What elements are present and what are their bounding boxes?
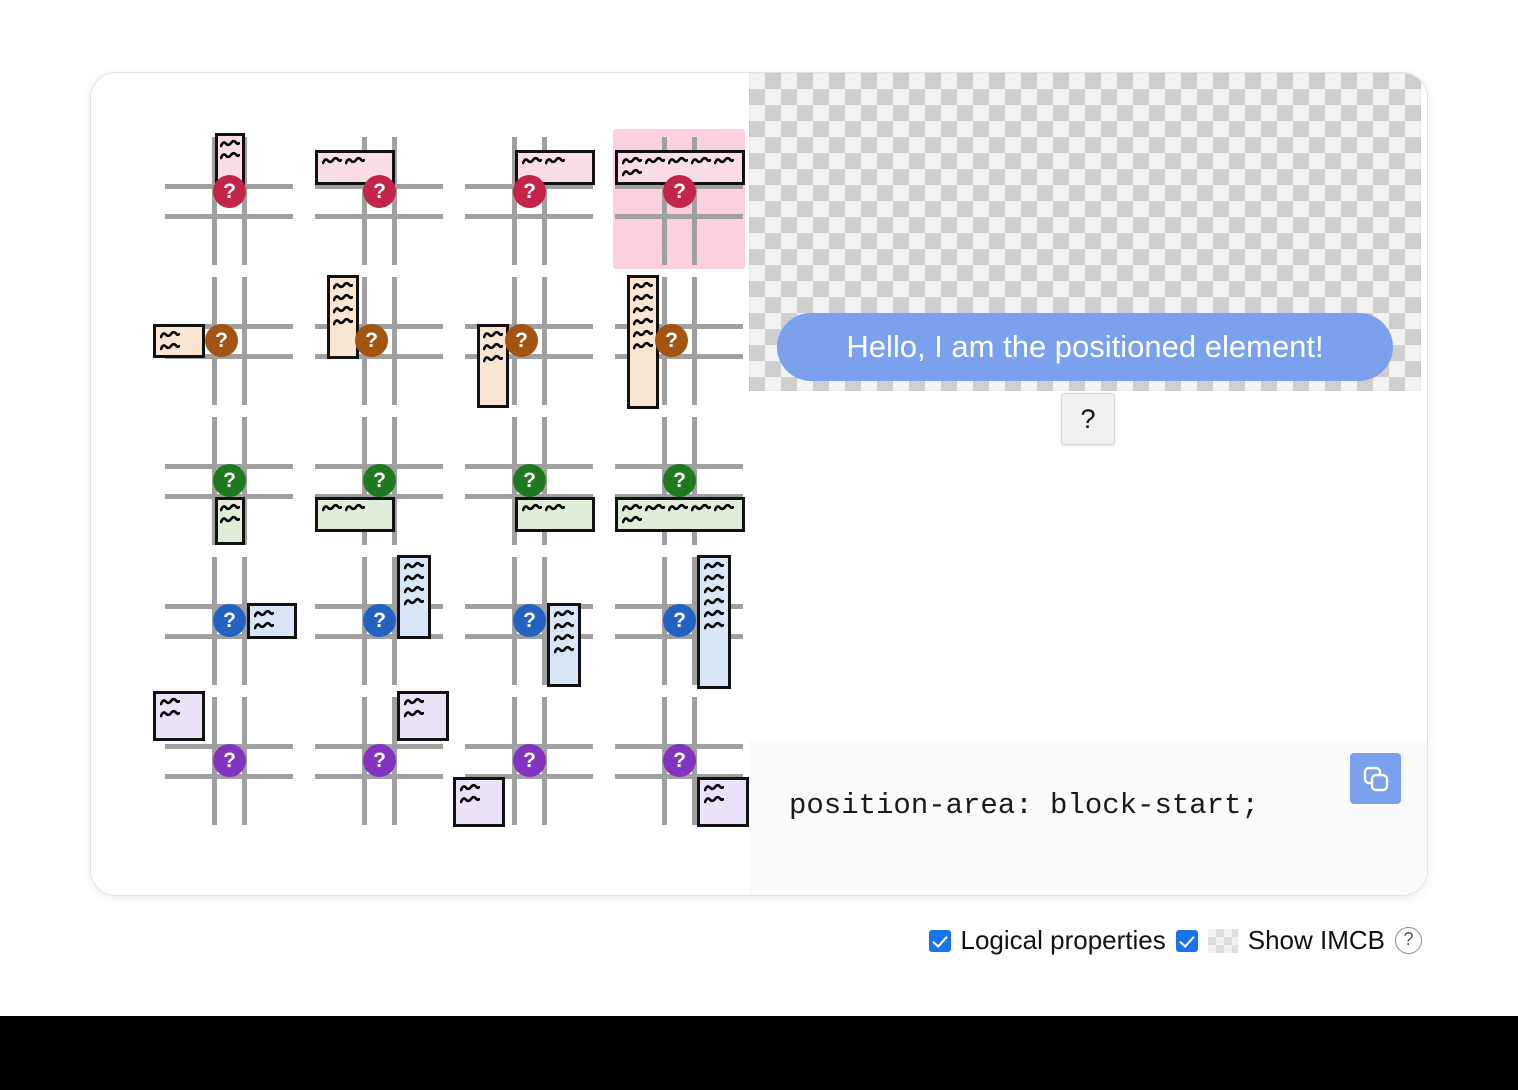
anchor-badge: ? xyxy=(663,744,696,777)
containing-block-grid: ? xyxy=(185,297,273,385)
squiggle-icon xyxy=(554,645,574,656)
squiggle-icon xyxy=(404,697,424,708)
squiggle-icon xyxy=(622,503,642,514)
squiggle-icon xyxy=(704,597,724,608)
squiggle-icon xyxy=(704,795,724,806)
squiggle-icon xyxy=(460,783,480,794)
position-area-option[interactable]: ? xyxy=(313,129,445,269)
squiggle-icon xyxy=(404,597,424,608)
anchor-badge: ? xyxy=(513,464,546,497)
positioned-box-preview xyxy=(247,603,297,639)
grid-line xyxy=(165,214,293,219)
squiggle-icon xyxy=(554,609,574,620)
containing-block-grid: ? xyxy=(635,297,723,385)
positioned-element-bubble: Hello, I am the positioned element! xyxy=(777,313,1393,381)
positioned-box-preview xyxy=(397,555,431,639)
grid-line xyxy=(315,214,443,219)
positioned-box-preview xyxy=(153,691,205,741)
squiggle-icon xyxy=(633,317,653,328)
squiggle-icon xyxy=(554,621,574,632)
squiggle-icon xyxy=(645,503,665,514)
positioned-box-preview xyxy=(397,691,449,741)
squiggle-icon xyxy=(704,609,724,620)
option-picker-panel: ???????????????????? xyxy=(91,73,749,895)
page-root: ???????????????????? Hello, I am the pos… xyxy=(0,0,1518,1090)
squiggle-icon xyxy=(645,156,665,167)
positioned-box-preview xyxy=(697,555,731,689)
positioned-box-preview xyxy=(515,497,595,532)
squiggle-icon xyxy=(522,156,542,167)
squiggle-icon xyxy=(404,709,424,720)
position-area-option[interactable]: ? xyxy=(163,409,295,549)
show-imcb-label: Show IMCB xyxy=(1248,925,1385,956)
grid-line xyxy=(392,277,397,405)
anchor-badge: ? xyxy=(513,175,546,208)
squiggle-icon xyxy=(404,573,424,584)
anchor-badge: ? xyxy=(663,604,696,637)
positioned-box-preview xyxy=(153,324,205,358)
grid-line xyxy=(542,277,547,405)
containing-block-grid: ? xyxy=(635,717,723,805)
positioned-box-preview xyxy=(315,497,395,532)
squiggle-icon xyxy=(668,503,688,514)
anchor-badge: ? xyxy=(363,175,396,208)
squiggle-icon xyxy=(668,156,688,167)
squiggle-icon xyxy=(333,305,353,316)
containing-block-grid: ? xyxy=(335,437,423,525)
squiggle-icon xyxy=(691,503,711,514)
anchor-badge: ? xyxy=(363,464,396,497)
copy-icon xyxy=(1361,764,1391,794)
squiggle-icon xyxy=(704,783,724,794)
squiggle-icon xyxy=(704,585,724,596)
show-imcb-checkbox[interactable] xyxy=(1176,930,1198,952)
position-area-option[interactable]: ? xyxy=(463,689,595,829)
position-area-option[interactable]: ? xyxy=(613,689,745,829)
logical-properties-control[interactable]: Logical properties xyxy=(929,925,1166,956)
positioned-box-preview xyxy=(477,324,509,408)
anchor-badge: ? xyxy=(213,175,246,208)
grid-line xyxy=(692,277,697,405)
squiggle-icon xyxy=(714,156,734,167)
position-area-option-grid[interactable]: ???????????????????? xyxy=(163,129,745,829)
containing-block-grid: ? xyxy=(635,157,723,245)
squiggle-icon xyxy=(483,354,503,365)
anchor-badge: ? xyxy=(513,604,546,637)
containing-block-grid: ? xyxy=(185,717,273,805)
squiggle-icon xyxy=(545,503,565,514)
squiggle-icon xyxy=(333,317,353,328)
squiggle-icon xyxy=(545,156,565,167)
position-area-option[interactable]: ? xyxy=(313,689,445,829)
anchor-badge: ? xyxy=(213,604,246,637)
position-area-option[interactable]: ? xyxy=(313,409,445,549)
position-area-option[interactable]: ? xyxy=(163,549,295,689)
squiggle-icon xyxy=(404,561,424,572)
anchor-badge: ? xyxy=(205,324,238,357)
position-area-option[interactable]: ? xyxy=(463,269,595,409)
squiggle-icon xyxy=(622,168,642,179)
grid-line xyxy=(242,277,247,405)
containing-block-grid: ? xyxy=(335,157,423,245)
squiggle-icon xyxy=(554,633,574,644)
squiggle-icon xyxy=(704,561,724,572)
containing-block-grid: ? xyxy=(485,717,573,805)
containing-block-grid: ? xyxy=(185,157,273,245)
squiggle-icon xyxy=(714,503,734,514)
squiggle-icon xyxy=(633,329,653,340)
squiggle-icon xyxy=(254,621,274,632)
containing-block-grid: ? xyxy=(635,577,723,665)
squiggle-icon xyxy=(522,503,542,514)
squiggle-icon xyxy=(633,293,653,304)
anchor-element-chip: ? xyxy=(1061,393,1115,445)
position-area-option[interactable]: ? xyxy=(163,269,295,409)
containing-block-grid: ? xyxy=(485,297,573,385)
squiggle-icon xyxy=(622,515,642,526)
squiggle-icon xyxy=(704,573,724,584)
squiggle-icon xyxy=(333,293,353,304)
positioned-box-preview xyxy=(215,497,245,545)
containing-block-grid: ? xyxy=(335,577,423,665)
anchor-badge: ? xyxy=(363,604,396,637)
logical-properties-label: Logical properties xyxy=(961,925,1166,956)
anchor-badge: ? xyxy=(655,324,688,357)
positioned-box-preview xyxy=(697,777,749,827)
position-area-option[interactable]: ? xyxy=(613,129,745,269)
positioned-box-preview xyxy=(327,275,359,359)
squiggle-icon xyxy=(220,515,240,526)
squiggle-icon xyxy=(160,709,180,720)
logical-properties-checkbox[interactable] xyxy=(929,930,951,952)
squiggle-icon xyxy=(333,281,353,292)
containing-block-grid: ? xyxy=(485,577,573,665)
anchor-badge: ? xyxy=(505,324,538,357)
anchor-badge: ? xyxy=(663,175,696,208)
containing-block-grid: ? xyxy=(485,157,573,245)
containing-block-grid: ? xyxy=(185,437,273,525)
squiggle-icon xyxy=(220,151,240,162)
position-area-option[interactable]: ? xyxy=(313,549,445,689)
copy-button[interactable] xyxy=(1350,753,1401,804)
help-icon[interactable]: ? xyxy=(1395,927,1422,954)
squiggle-icon xyxy=(633,305,653,316)
grid-line xyxy=(465,214,593,219)
squiggle-icon xyxy=(254,609,274,620)
anchor-badge: ? xyxy=(213,464,246,497)
position-area-option[interactable]: ? xyxy=(463,129,595,269)
css-declaration-text: position-area: block-start; xyxy=(789,789,1259,822)
squiggle-icon xyxy=(160,342,180,353)
squiggle-icon xyxy=(704,621,724,632)
positioned-box-preview xyxy=(453,777,505,827)
positioned-box-preview xyxy=(547,603,581,687)
containing-block-grid: ? xyxy=(485,437,573,525)
squiggle-icon xyxy=(483,342,503,353)
squiggle-icon xyxy=(622,156,642,167)
containing-block-grid: ? xyxy=(335,297,423,385)
preview-panel: Hello, I am the positioned element! ? po… xyxy=(749,73,1427,895)
squiggle-icon xyxy=(322,503,342,514)
squiggle-icon xyxy=(633,341,653,352)
squiggle-icon xyxy=(483,330,503,341)
position-area-option[interactable]: ? xyxy=(463,549,595,689)
squiggle-icon xyxy=(404,585,424,596)
squiggle-icon xyxy=(691,156,711,167)
anchor-badge: ? xyxy=(213,744,246,777)
containing-block-grid: ? xyxy=(335,717,423,805)
position-area-option[interactable]: ? xyxy=(313,269,445,409)
squiggle-icon xyxy=(633,281,653,292)
bottom-letterbox xyxy=(0,1016,1518,1090)
squiggle-icon xyxy=(460,795,480,806)
squiggle-icon xyxy=(345,503,365,514)
containing-block-grid: ? xyxy=(635,437,723,525)
position-area-option[interactable]: ? xyxy=(163,129,295,269)
positioned-box-preview xyxy=(615,497,745,532)
anchor-badge: ? xyxy=(355,324,388,357)
show-imcb-control[interactable]: Show IMCB xyxy=(1176,925,1385,956)
squiggle-icon xyxy=(160,697,180,708)
squiggle-icon xyxy=(220,503,240,514)
position-area-card: ???????????????????? Hello, I am the pos… xyxy=(90,72,1428,896)
position-area-option[interactable]: ? xyxy=(463,409,595,549)
code-panel: position-area: block-start; xyxy=(749,741,1427,895)
options-toolbar: Logical properties Show IMCB ? xyxy=(929,925,1423,956)
position-area-option[interactable]: ? xyxy=(163,689,295,829)
squiggle-icon xyxy=(220,139,240,150)
checkerboard-swatch-icon xyxy=(1208,929,1238,953)
anchor-badge: ? xyxy=(663,464,696,497)
squiggle-icon xyxy=(322,156,342,167)
squiggle-icon xyxy=(345,156,365,167)
containing-block-grid: ? xyxy=(185,577,273,665)
position-area-option[interactable]: ? xyxy=(613,409,745,549)
position-area-option[interactable]: ? xyxy=(613,269,745,409)
squiggle-icon xyxy=(160,330,180,341)
grid-line xyxy=(615,214,743,219)
position-area-option[interactable]: ? xyxy=(613,549,745,689)
anchor-badge: ? xyxy=(363,744,396,777)
anchor-badge: ? xyxy=(513,744,546,777)
